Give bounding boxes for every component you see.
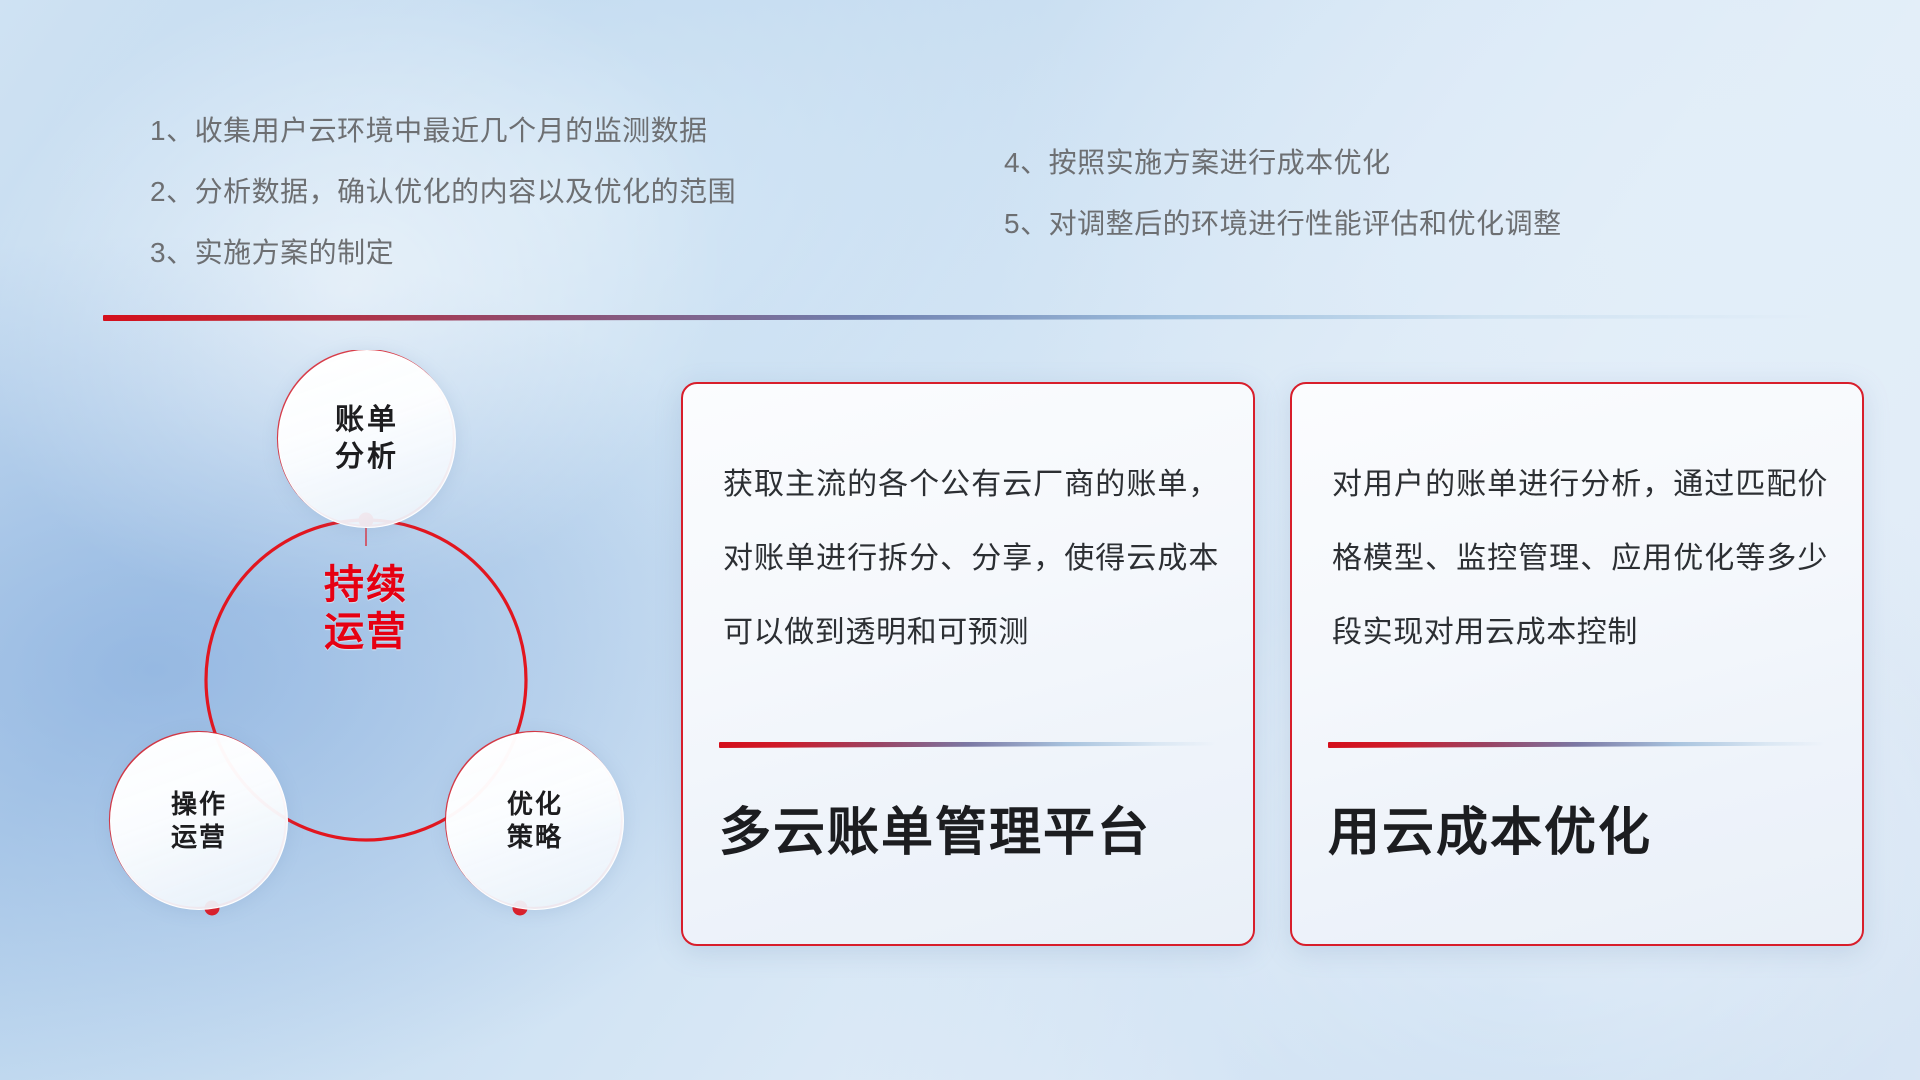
steps-list-left: 1、收集用户云环境中最近几个月的监测数据 2、分析数据，确认优化的内容以及优化的…	[150, 100, 736, 283]
step-item-5: 5、对调整后的环境进行性能评估和优化调整	[1004, 193, 1562, 254]
bubble-label-line1: 优化	[507, 788, 563, 821]
feature-card-multi-cloud-billing[interactable]: 获取主流的各个公有云厂商的账单，对账单进行拆分、分享，使得云成本可以做到透明和可…	[681, 382, 1255, 946]
bubble-label-line2: 策略	[507, 821, 563, 854]
venn-diagram: 账单 分析 操作 运营 优化 策略 持续 运营	[96, 350, 656, 950]
card-title: 多云账单管理平台	[719, 802, 1225, 864]
venn-bubble-operation[interactable]: 操作 运营	[110, 732, 288, 910]
step-item-4: 4、按照实施方案进行成本优化	[1004, 132, 1562, 193]
slide-canvas: 1、收集用户云环境中最近几个月的监测数据 2、分析数据，确认优化的内容以及优化的…	[0, 0, 1920, 1080]
center-label-line1: 持续	[278, 562, 454, 609]
feature-card-cloud-cost-optimization[interactable]: 对用户的账单进行分析，通过匹配价格模型、监控管理、应用优化等多少段实现对用云成本…	[1290, 382, 1864, 946]
section-divider	[103, 315, 1829, 321]
card-divider	[1328, 742, 1826, 748]
bubble-label-line1: 操作	[171, 788, 227, 821]
bubble-label-line1: 账单	[335, 402, 399, 439]
card-description: 对用户的账单进行分析，通过匹配价格模型、监控管理、应用优化等多少段实现对用云成本…	[1332, 448, 1828, 670]
step-item-1: 1、收集用户云环境中最近几个月的监测数据	[150, 100, 736, 161]
bubble-label-line2: 运营	[171, 821, 227, 854]
step-item-3: 3、实施方案的制定	[150, 222, 736, 283]
steps-list-right: 4、按照实施方案进行成本优化 5、对调整后的环境进行性能评估和优化调整	[1004, 132, 1562, 254]
bubble-label-line2: 分析	[335, 439, 399, 476]
card-description: 获取主流的各个公有云厂商的账单，对账单进行拆分、分享，使得云成本可以做到透明和可…	[723, 448, 1219, 670]
step-item-2: 2、分析数据，确认优化的内容以及优化的范围	[150, 161, 736, 222]
venn-bubble-bill-analysis[interactable]: 账单 分析	[278, 350, 456, 528]
card-title: 用云成本优化	[1328, 802, 1834, 864]
card-divider	[719, 742, 1217, 748]
center-label-line2: 运营	[278, 609, 454, 656]
venn-bubble-optimization-strategy[interactable]: 优化 策略	[446, 732, 624, 910]
venn-center-label: 持续 运营	[278, 562, 454, 656]
